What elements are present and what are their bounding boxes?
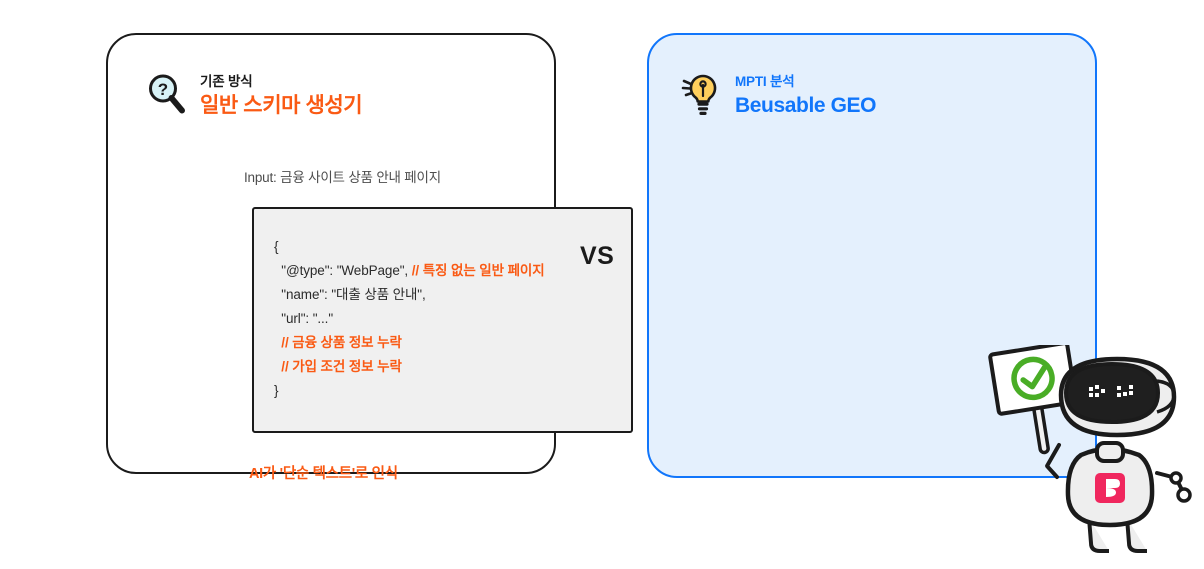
code-token: {: [274, 239, 278, 254]
lightbulb-idea-icon: [679, 72, 723, 118]
code-line: "url": "...": [274, 307, 631, 331]
vs-label: VS: [580, 242, 614, 271]
code-line: "@type": "WebPage", // 특징 없는 일반 페이지: [274, 259, 631, 283]
code-token: "@type": "WebPage",: [274, 263, 412, 278]
code-line: // 가입 조건 정보 누락: [274, 355, 631, 379]
legacy-card-footer: AI가 '단순 텍스트'로 인식: [249, 462, 398, 483]
geo-card-header: MPTI 분석 Beusable GEO: [679, 70, 876, 118]
b-logo: [1095, 473, 1125, 503]
code-token: // 가입 조건 정보 누락: [274, 359, 402, 374]
legacy-code-block: { "@type": "WebPage", // 특징 없는 일반 페이지 "n…: [252, 207, 633, 433]
legacy-card-headline: 일반 스키마 생성기: [200, 93, 362, 118]
geo-card-eyebrow: MPTI 분석: [735, 74, 876, 90]
comparison-infographic: ? 기존 방식 일반 스키마 생성기 Input: 금융 사이트 상품 안내 페…: [0, 0, 1204, 564]
code-line: }: [274, 379, 631, 403]
code-token: // 특징 없는 일반 페이지: [412, 263, 545, 278]
beusable-robot-mascot: [985, 345, 1200, 564]
code-token: // 금융 상품 정보 누락: [274, 335, 402, 350]
code-token: "url": "...": [274, 311, 333, 326]
svg-text:?: ?: [158, 80, 168, 99]
magnifier-question-icon: ?: [144, 72, 188, 118]
code-line: {: [274, 235, 631, 259]
legacy-card-header: ? 기존 방식 일반 스키마 생성기: [144, 70, 362, 118]
geo-card-headline: Beusable GEO: [735, 93, 876, 118]
legacy-card-eyebrow: 기존 방식: [200, 74, 362, 90]
legacy-method-card: ? 기존 방식 일반 스키마 생성기 Input: 금융 사이트 상품 안내 페…: [106, 33, 556, 474]
code-line: // 금융 상품 정보 누락: [274, 331, 631, 355]
legacy-input-line: Input: 금융 사이트 상품 안내 페이지: [244, 166, 441, 186]
code-line: "name": "대출 상품 안내",: [274, 283, 631, 307]
code-token: }: [274, 383, 278, 398]
code-token: "name": "대출 상품 안내",: [274, 287, 426, 302]
